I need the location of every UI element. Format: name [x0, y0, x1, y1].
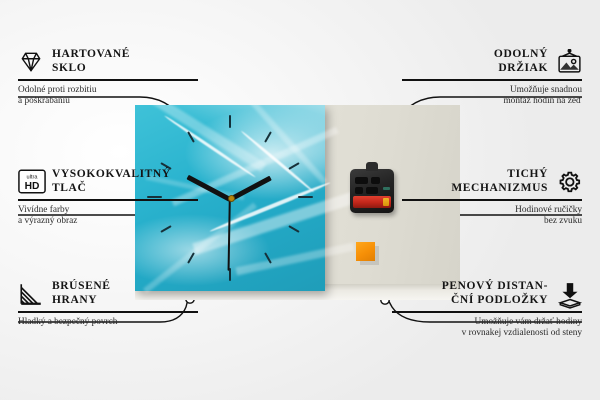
feature-title-line1: TICHÝ	[451, 168, 548, 182]
feature-polished-edges: BRÚSENÉ HRANY Hladký a bezpečný povrch	[18, 280, 198, 328]
infographic-canvas: HARTOVANÉ SKLO Odolné proti rozbitiu a p…	[0, 0, 600, 400]
feature-desc-line2: bez zvuku	[402, 216, 582, 228]
feature-title-line1: ODOLNÝ	[494, 48, 548, 62]
feature-desc-line1: Hodinové ručičky	[402, 205, 582, 217]
clock-hour-hand	[229, 176, 272, 202]
divider	[402, 79, 582, 81]
down-arrow-pads-icon	[556, 281, 582, 307]
feature-title-line2: HRANY	[52, 294, 111, 308]
feature-desc-line1: Hladký a bezpečný povrch	[18, 317, 198, 329]
feature-durable-hanger: ODOLNÝ DRŽIAK Umožňuje snadnou montáž ho…	[402, 48, 582, 108]
feature-title-line2: DRŽIAK	[494, 62, 548, 76]
feature-title-line2: ČNÍ PODLOŽKY	[442, 294, 548, 308]
ultra-hd-icon: ultra HD	[18, 169, 44, 195]
polished-edge-icon	[18, 281, 44, 307]
foam-spacer-pad	[356, 242, 375, 261]
feature-title-line2: TLAČ	[52, 182, 171, 196]
feature-title-line1: BRÚSENÉ	[52, 280, 111, 294]
feature-desc-line2: a výrazný obraz	[18, 216, 198, 228]
feature-title-line1: PENOVÝ DISTAN-	[442, 280, 548, 294]
divider	[402, 199, 582, 201]
divider	[18, 79, 198, 81]
svg-text:HD: HD	[25, 180, 40, 191]
feature-desc-line2: v rovnakej vzdialenosti od steny	[392, 328, 582, 340]
feature-title-line1: VYSOKOKVALITNÝ	[52, 168, 171, 182]
diamond-icon	[18, 49, 44, 75]
feature-desc-line1: Umožňuje vám držať hodiny	[392, 317, 582, 329]
picture-hanger-icon	[556, 49, 582, 75]
clock-center-hub	[228, 195, 235, 202]
feature-title-line2: SKLO	[52, 62, 130, 76]
feature-desc-line1: Umožňuje snadnou	[402, 85, 582, 97]
gear-icon	[556, 169, 582, 195]
feature-foam-spacers: PENOVÝ DISTAN- ČNÍ PODLOŽKY Umožňuje vám…	[392, 280, 582, 340]
feature-high-quality-print: ultra HD VYSOKOKVALITNÝ TLAČ Vivídne far…	[18, 168, 198, 228]
feature-desc-line2: montáž hodin na zeď	[402, 96, 582, 108]
divider	[18, 311, 198, 313]
feature-title-line1: HARTOVANÉ	[52, 48, 130, 62]
feature-silent-mechanism: TICHÝ MECHANIZMUS Hodinové ručičky bez z…	[402, 168, 582, 228]
feature-title-line2: MECHANIZMUS	[451, 182, 548, 196]
clock-mechanism	[350, 169, 394, 213]
feature-hardened-glass: HARTOVANÉ SKLO Odolné proti rozbitiu a p…	[18, 48, 198, 108]
divider	[18, 199, 198, 201]
battery	[353, 196, 391, 208]
svg-text:ultra: ultra	[27, 174, 39, 180]
divider	[392, 311, 582, 313]
feature-desc-line1: Odolné proti rozbitiu	[18, 85, 198, 97]
feature-desc-line2: a poškrábaniu	[18, 96, 198, 108]
feature-desc-line1: Vivídne farby	[18, 205, 198, 217]
